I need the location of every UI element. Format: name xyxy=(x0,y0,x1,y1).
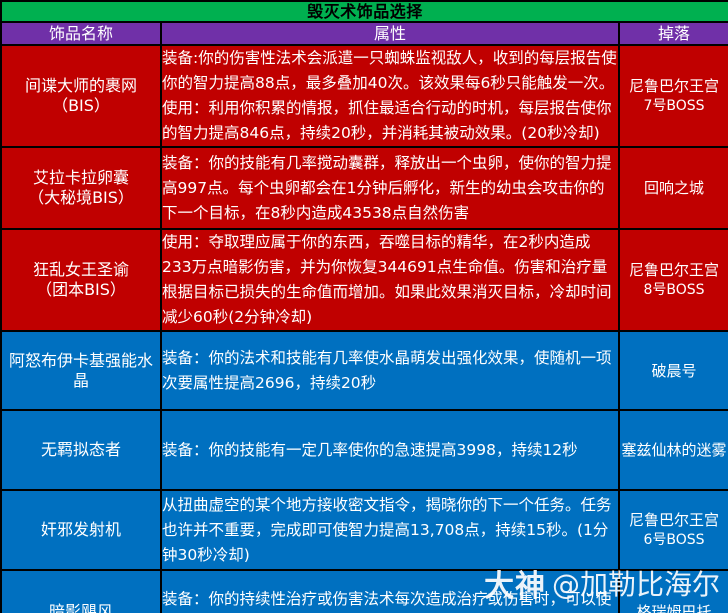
trinket-drop-boss: 8号BOSS xyxy=(620,280,728,300)
trinket-drop-cell: 塞兹仙林的迷雾 xyxy=(619,410,728,490)
trinket-name-cell: 狂乱女王圣谕（团本BIS） xyxy=(1,229,161,331)
column-header-drop: 掉落 xyxy=(619,22,728,45)
trinket-drop-source: 格瑞姆巴托 xyxy=(636,603,711,613)
table-row: 间谍大师的裹网（BIS）装备:你的伤害性法术会派遣一只蜘蛛监视敌人，收到的每层报… xyxy=(1,45,728,147)
trinket-attribute-cell: 装备:你的伤害性法术会派遣一只蜘蛛监视敌人，收到的每层报告使你的智力提高88点，… xyxy=(161,45,619,147)
trinket-drop-cell: 回响之城 xyxy=(619,147,728,229)
trinket-name: 无羁拟态者 xyxy=(2,440,160,460)
trinket-name-note: （团本BIS） xyxy=(2,280,160,300)
trinket-name: 狂乱女王圣谕 xyxy=(2,260,160,280)
trinket-attribute-cell: 从扭曲虚空的某个地方接收密文指令，揭晓你的下一个任务。任务也许并不重要，完成即可… xyxy=(161,490,619,570)
trinket-drop-cell: 尼鲁巴尔王宫8号BOSS xyxy=(619,229,728,331)
trinket-name-cell: 间谍大师的裹网（BIS） xyxy=(1,45,161,147)
trinket-name-cell: 阿怒布伊卡基强能水晶 xyxy=(1,331,161,410)
trinket-name-cell: 无羁拟态者 xyxy=(1,410,161,490)
trinket-drop-boss: 6号BOSS xyxy=(620,530,728,550)
trinket-attribute-cell: 使用：夺取理应属于你的东西，吞噬目标的精华，在2秒内造成233万点暗影伤害，并为… xyxy=(161,229,619,331)
trinket-name: 奸邪发射机 xyxy=(2,520,160,540)
trinket-drop-source: 尼鲁巴尔王宫 xyxy=(629,261,719,279)
trinket-drop-boss: 7号BOSS xyxy=(620,96,728,116)
trinket-name-cell: 奸邪发射机 xyxy=(1,490,161,570)
trinket-name: 暗影飓风 xyxy=(2,602,160,613)
trinket-drop-source: 回响之城 xyxy=(644,179,704,197)
table-title-row: 毁灭术饰品选择 xyxy=(1,1,728,22)
trinket-name-note: （大秘境BIS） xyxy=(2,188,160,208)
trinket-attribute-cell: 装备：你的持续性治疗或伤害法术每次造成治疗或伤害时，可以使你获得129点智力，持… xyxy=(161,570,619,613)
trinket-attribute-cell: 装备：你的法术和技能有几率使水晶萌发出强化效果，使随机一项次要属性提高2696，… xyxy=(161,331,619,410)
column-header-name: 饰品名称 xyxy=(1,22,161,45)
table-row: 艾拉卡拉卵囊（大秘境BIS）装备：你的技能有几率搅动囊群，释放出一个虫卵，使你的… xyxy=(1,147,728,229)
trinket-name-note: （BIS） xyxy=(2,96,160,116)
screenshot-root: 毁灭术饰品选择 饰品名称 属性 掉落 间谍大师的裹网（BIS）装备:你的伤害性法… xyxy=(0,0,728,613)
table-row: 奸邪发射机从扭曲虚空的某个地方接收密文指令，揭晓你的下一个任务。任务也许并不重要… xyxy=(1,490,728,570)
trinket-drop-cell: 尼鲁巴尔王宫7号BOSS xyxy=(619,45,728,147)
table-row: 狂乱女王圣谕（团本BIS）使用：夺取理应属于你的东西，吞噬目标的精华，在2秒内造… xyxy=(1,229,728,331)
trinket-drop-cell: 破晨号 xyxy=(619,331,728,410)
table-header-row: 饰品名称 属性 掉落 xyxy=(1,22,728,45)
table-row: 无羁拟态者装备：你的技能有一定几率使你的急速提高3998，持续12秒塞兹仙林的迷… xyxy=(1,410,728,490)
trinket-attribute-cell: 装备：你的技能有一定几率使你的急速提高3998，持续12秒 xyxy=(161,410,619,490)
trinket-attribute-cell: 装备：你的技能有几率搅动囊群，释放出一个虫卵，使你的智力提高997点。每个虫卵都… xyxy=(161,147,619,229)
trinket-name-cell: 艾拉卡拉卵囊（大秘境BIS） xyxy=(1,147,161,229)
trinket-name: 间谍大师的裹网 xyxy=(2,76,160,96)
trinket-drop-source: 尼鲁巴尔王宫 xyxy=(629,77,719,95)
table-row: 暗影飓风装备：你的持续性治疗或伤害法术每次造成治疗或伤害时，可以使你获得129点… xyxy=(1,570,728,613)
trinket-table: 毁灭术饰品选择 饰品名称 属性 掉落 间谍大师的裹网（BIS）装备:你的伤害性法… xyxy=(0,0,728,613)
page-title: 毁灭术饰品选择 xyxy=(1,1,728,22)
trinket-drop-source: 破晨号 xyxy=(651,362,696,380)
trinket-drop-source: 尼鲁巴尔王宫 xyxy=(629,511,719,529)
trinket-drop-source: 塞兹仙林的迷雾 xyxy=(621,441,726,459)
trinket-drop-cell: 格瑞姆巴托 xyxy=(619,570,728,613)
table-row: 阿怒布伊卡基强能水晶装备：你的法术和技能有几率使水晶萌发出强化效果，使随机一项次… xyxy=(1,331,728,410)
trinket-drop-cell: 尼鲁巴尔王宫6号BOSS xyxy=(619,490,728,570)
trinket-name-cell: 暗影飓风 xyxy=(1,570,161,613)
trinket-name: 艾拉卡拉卵囊 xyxy=(2,168,160,188)
column-header-attribute: 属性 xyxy=(161,22,619,45)
trinket-name: 阿怒布伊卡基强能水晶 xyxy=(2,351,160,391)
